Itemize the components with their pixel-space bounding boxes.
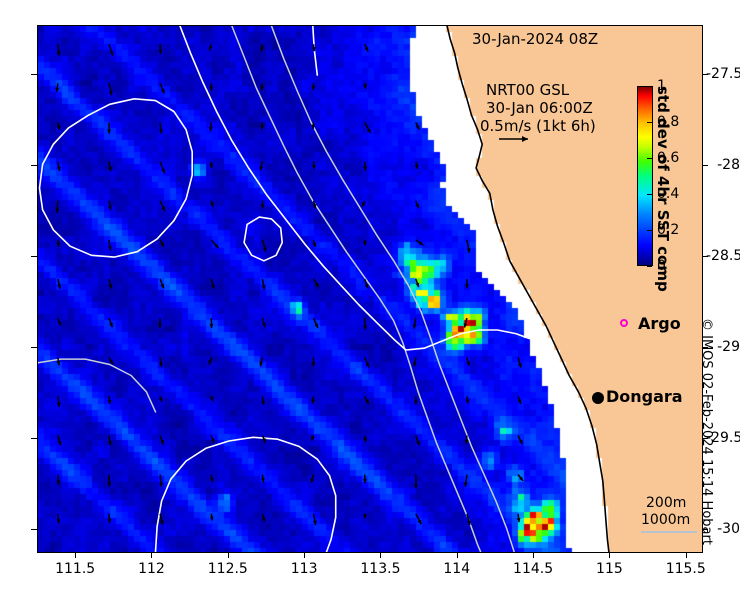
current-vector-arrow: [209, 162, 213, 169]
x-axis-tick-mark: [228, 552, 229, 558]
argo-legend-label: Argo: [638, 314, 681, 333]
current-vector-arrow: [108, 396, 112, 404]
x-axis-tick-label: 111.5: [55, 561, 95, 577]
x-axis-tick-mark: [686, 552, 687, 558]
current-vector-arrow: [56, 475, 60, 485]
current-vector-arrow: [415, 162, 419, 169]
current-vector-arrow: [415, 201, 419, 209]
current-vector-arrow: [262, 318, 266, 327]
current-vector-arrow: [363, 240, 367, 246]
timestamp-label: 30-Jan-2024 08Z: [472, 30, 598, 48]
current-vector-arrow: [467, 514, 471, 525]
current-vector-arrow: [55, 201, 59, 213]
y-axis-tick-mark: [31, 165, 37, 166]
current-vector-arrow: [107, 123, 111, 134]
current-vector-arrow: [362, 201, 366, 207]
current-vector-arrow: [107, 475, 111, 487]
colorbar-tick-mark: [647, 266, 652, 267]
y-axis-tick-mark: [31, 529, 37, 530]
current-vector-arrow: [413, 318, 417, 329]
current-vector-arrow: [260, 44, 264, 51]
ocean-current-vectors: [55, 44, 523, 525]
contour-200m-small-loop: [244, 217, 282, 261]
current-vector-arrow: [464, 318, 468, 328]
current-vector-arrow: [262, 436, 266, 443]
current-vector-arrow: [260, 83, 264, 90]
current-vector-arrow: [467, 240, 471, 253]
current-vector-arrow: [108, 279, 112, 289]
current-vector-arrow: [209, 123, 213, 132]
dongara-city-label: Dongara: [606, 387, 683, 406]
current-vector-arrow: [312, 44, 316, 51]
current-vector-arrow: [160, 201, 165, 211]
current-vector-arrow: [159, 475, 163, 487]
x-axis-tick-label: 114: [443, 561, 470, 577]
current-vector-arrow: [312, 357, 316, 366]
current-vector-arrow: [210, 514, 214, 521]
colorbar-tick-mark: [647, 158, 652, 159]
y-axis-tick-label: -28.5: [706, 248, 740, 264]
reference-arrow-icon: [498, 132, 538, 146]
current-vector-arrow: [261, 201, 265, 209]
x-axis-tick-mark: [75, 552, 76, 558]
current-vector-arrow: [414, 475, 418, 489]
current-vector-arrow: [518, 357, 522, 367]
y-axis-tick-mark: [31, 438, 37, 439]
current-vector-arrow: [313, 514, 317, 525]
current-vector-arrow: [108, 436, 112, 446]
current-vector-arrow: [365, 396, 369, 404]
y-axis-tick-label: -28: [706, 157, 740, 173]
current-vector-arrow: [365, 44, 369, 51]
x-axis-tick-mark: [380, 552, 381, 558]
current-vector-arrow: [262, 279, 266, 290]
current-vector-arrow: [58, 436, 62, 446]
y-axis-tick-label: -27.5: [706, 66, 740, 82]
current-vector-arrow: [160, 279, 164, 288]
current-vector-arrow: [209, 83, 213, 90]
current-vector-arrow: [109, 318, 113, 327]
current-vector-arrow: [109, 83, 113, 95]
current-vector-arrow: [262, 514, 266, 522]
current-vector-arrow: [56, 240, 60, 247]
current-vector-arrow: [466, 357, 470, 366]
current-vector-arrow: [210, 201, 214, 207]
current-vector-arrow: [159, 357, 163, 366]
contour-200m-lower: [156, 437, 336, 552]
current-vector-arrow: [314, 318, 319, 328]
bathymetry-200m-contours: [40, 26, 532, 552]
x-axis-tick-mark: [533, 552, 534, 558]
current-vector-arrow: [413, 357, 417, 366]
current-vector-arrow: [517, 514, 521, 522]
current-vector-arrow: [518, 475, 523, 481]
current-vector-arrow: [210, 475, 214, 483]
current-vector-arrow: [159, 123, 163, 134]
current-vector-arrow: [211, 279, 215, 289]
current-vector-arrow: [416, 279, 420, 287]
current-vector-arrow: [363, 514, 367, 519]
current-vector-arrow: [108, 240, 112, 251]
argo-marker-icon: [620, 319, 628, 327]
colorbar-tick-mark: [647, 230, 652, 231]
current-vector-arrow: [160, 240, 164, 247]
current-vector-arrow: [518, 436, 522, 445]
depth-200m-label: 200m: [646, 495, 686, 511]
current-vector-arrow: [466, 396, 470, 403]
contour-200m-eddy: [40, 99, 193, 257]
current-vector-arrow: [58, 318, 62, 326]
current-vector-arrow: [414, 396, 418, 404]
current-vector-arrow: [259, 357, 263, 366]
current-vector-arrow: [363, 436, 367, 443]
current-vector-arrow: [108, 201, 112, 210]
map-overlays: [38, 26, 702, 552]
current-vector-arrow: [57, 162, 61, 171]
x-axis-tick-mark: [609, 552, 610, 558]
current-vector-arrow: [109, 357, 113, 364]
x-axis-tick-label: 113: [291, 561, 318, 577]
current-vector-arrow: [363, 162, 367, 171]
current-vector-arrow: [57, 44, 61, 55]
current-vector-arrow: [160, 162, 165, 174]
current-vector-arrow: [160, 83, 164, 93]
x-axis-tick-label: 113.5: [360, 561, 400, 577]
current-vector-arrow: [262, 240, 266, 252]
current-vector-arrow: [518, 396, 522, 403]
current-vector-arrow: [159, 396, 163, 401]
current-vector-arrow: [210, 318, 214, 328]
current-vector-arrow: [210, 396, 214, 401]
current-vector-arrow: [208, 357, 212, 364]
colorbar-tick-mark: [647, 122, 652, 123]
current-vector-arrow: [261, 475, 265, 483]
current-vector-arrow: [416, 240, 423, 245]
current-vector-arrow: [108, 514, 112, 523]
current-vector-arrow: [311, 396, 315, 403]
current-vector-arrow: [109, 44, 113, 56]
current-vector-arrow: [259, 162, 263, 171]
current-vector-arrow: [416, 514, 422, 524]
current-vector-arrow: [311, 436, 315, 441]
contour-1000m-main: [232, 26, 481, 552]
current-time-label: 30-Jan 06:00Z: [486, 99, 593, 117]
right-axis-tick-mark: [702, 74, 708, 75]
current-vector-arrow: [57, 357, 61, 365]
current-vector-arrow: [312, 240, 316, 247]
current-vector-arrow: [260, 123, 264, 130]
current-vector-arrow: [363, 83, 367, 89]
depth-1000m-label: 1000m: [641, 512, 690, 528]
current-vector-arrow: [57, 123, 61, 130]
current-vector-arrow: [160, 514, 164, 525]
colorbar-gradient: [637, 86, 653, 266]
current-vector-arrow: [465, 279, 469, 288]
current-vector-arrow: [314, 279, 319, 287]
sst-map-figure: -27.5-28-28.5-29-29.5-30 111.5112112.511…: [0, 0, 740, 592]
contour-1000m-secondary: [272, 26, 515, 552]
current-vector-arrow: [57, 396, 61, 407]
current-vector-arrow: [365, 123, 371, 134]
contour-200m-shelf: [180, 26, 531, 350]
y-axis-tick-mark: [31, 347, 37, 348]
current-vector-arrow: [261, 396, 265, 405]
current-vector-arrow: [310, 475, 314, 483]
x-axis-tick-mark: [151, 552, 152, 558]
x-axis-tick-label: 112.5: [208, 561, 248, 577]
colorbar-title: std dev of 4hr SST comp: [656, 86, 672, 266]
x-axis-tick-mark: [304, 552, 305, 558]
current-vector-arrow: [108, 162, 112, 172]
dongara-marker-icon: [592, 392, 604, 404]
current-vector-arrow: [159, 44, 163, 54]
current-vector-arrow: [211, 436, 215, 444]
current-vector-arrow: [464, 475, 468, 487]
colorbar: 00.20.40.60.81: [637, 86, 653, 266]
current-vector-arrow: [160, 436, 164, 445]
current-vector-arrow: [158, 318, 162, 328]
y-axis-tick-mark: [31, 74, 37, 75]
x-axis-tick-label: 114.5: [513, 561, 553, 577]
current-vector-arrow: [416, 436, 420, 446]
current-vector-arrow: [56, 514, 60, 524]
map-plot-inner: [38, 26, 702, 552]
depth-1000m-key-line: [641, 531, 697, 533]
y-axis-tick-mark: [31, 256, 37, 257]
current-vector-arrow: [363, 475, 367, 484]
x-axis-tick-mark: [457, 552, 458, 558]
x-axis-tick-label: 112: [138, 561, 165, 577]
current-vector-arrow: [363, 318, 367, 329]
current-vector-arrow: [416, 123, 420, 130]
contour-1000m-left: [38, 359, 156, 412]
current-vector-arrow: [211, 240, 218, 248]
current-vector-arrow: [312, 162, 316, 170]
current-vector-arrow: [365, 357, 369, 367]
current-vector-arrow: [57, 279, 61, 289]
current-vector-arrow: [312, 83, 316, 90]
credit-text: © IMOS 02-Feb-2024 15:14 Hobart: [699, 318, 714, 545]
map-plot-area[interactable]: [37, 25, 703, 553]
right-axis-tick-mark: [702, 165, 708, 166]
current-vector-arrow: [55, 83, 59, 92]
current-vector-arrow: [209, 44, 213, 51]
current-vector-arrow: [313, 201, 317, 209]
colorbar-tick-mark: [647, 194, 652, 195]
current-source-label: NRT00 GSL: [486, 81, 569, 99]
right-axis-tick-mark: [702, 256, 708, 257]
colorbar-tick-mark: [647, 86, 652, 87]
x-axis-tick-label: 115: [596, 561, 623, 577]
x-axis-tick-label: 115.5: [666, 561, 706, 577]
